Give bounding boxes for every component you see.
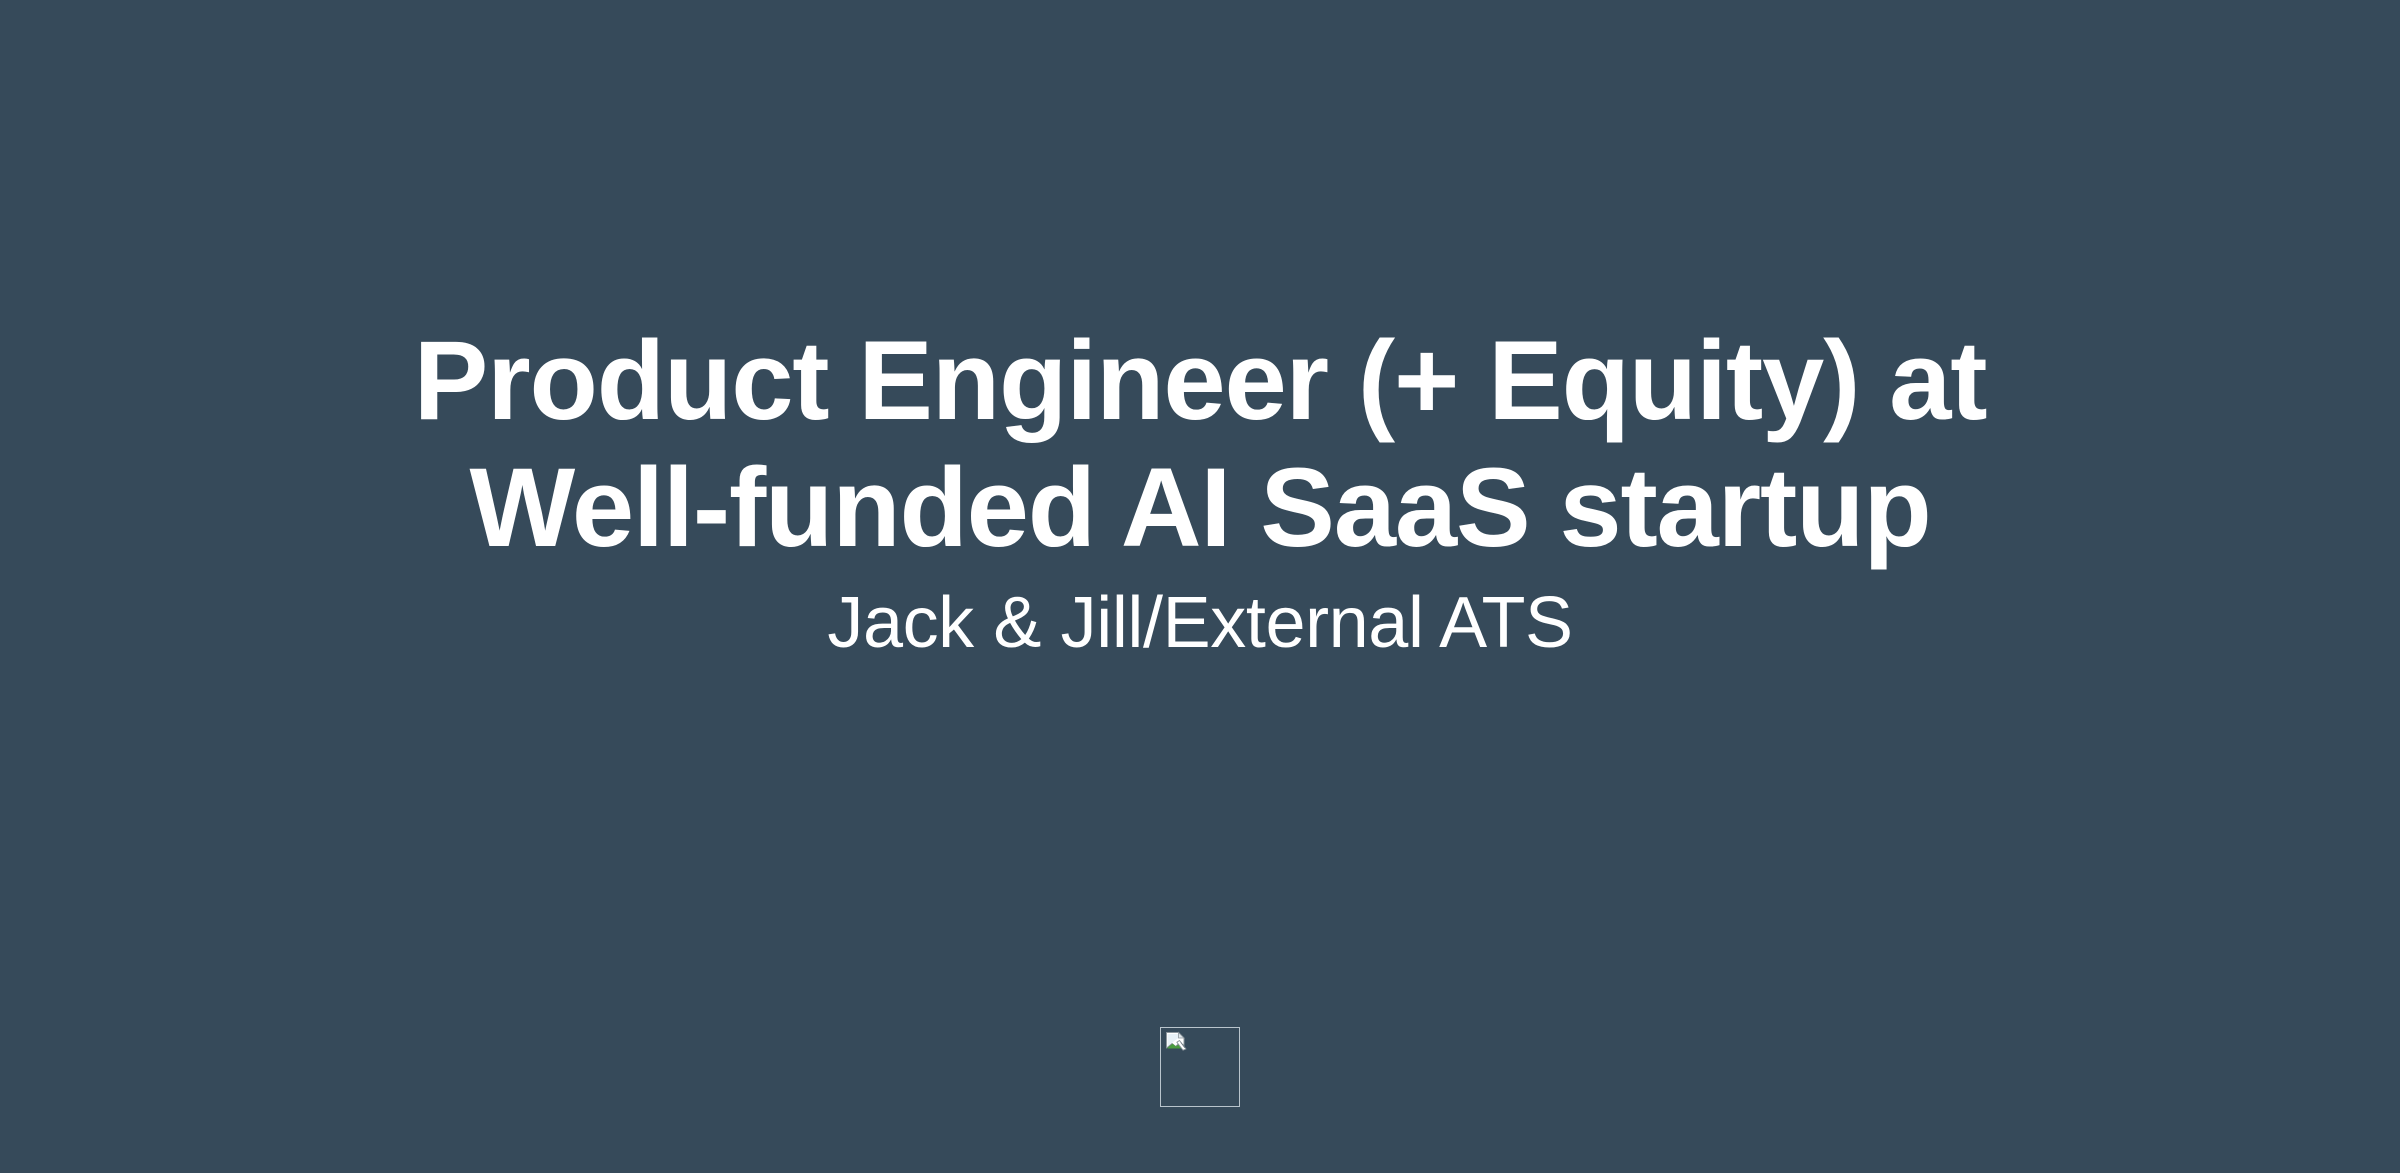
page-title: Product Engineer (+ Equity) at Well-fund… xyxy=(350,318,2050,571)
hero-section: Product Engineer (+ Equity) at Well-fund… xyxy=(0,0,2400,666)
page-root: Product Engineer (+ Equity) at Well-fund… xyxy=(0,0,2400,1173)
page-subtitle: Jack & Jill/External ATS xyxy=(350,581,2050,666)
company-logo-image xyxy=(1160,1027,1240,1107)
broken-image-icon xyxy=(1164,1031,1190,1057)
